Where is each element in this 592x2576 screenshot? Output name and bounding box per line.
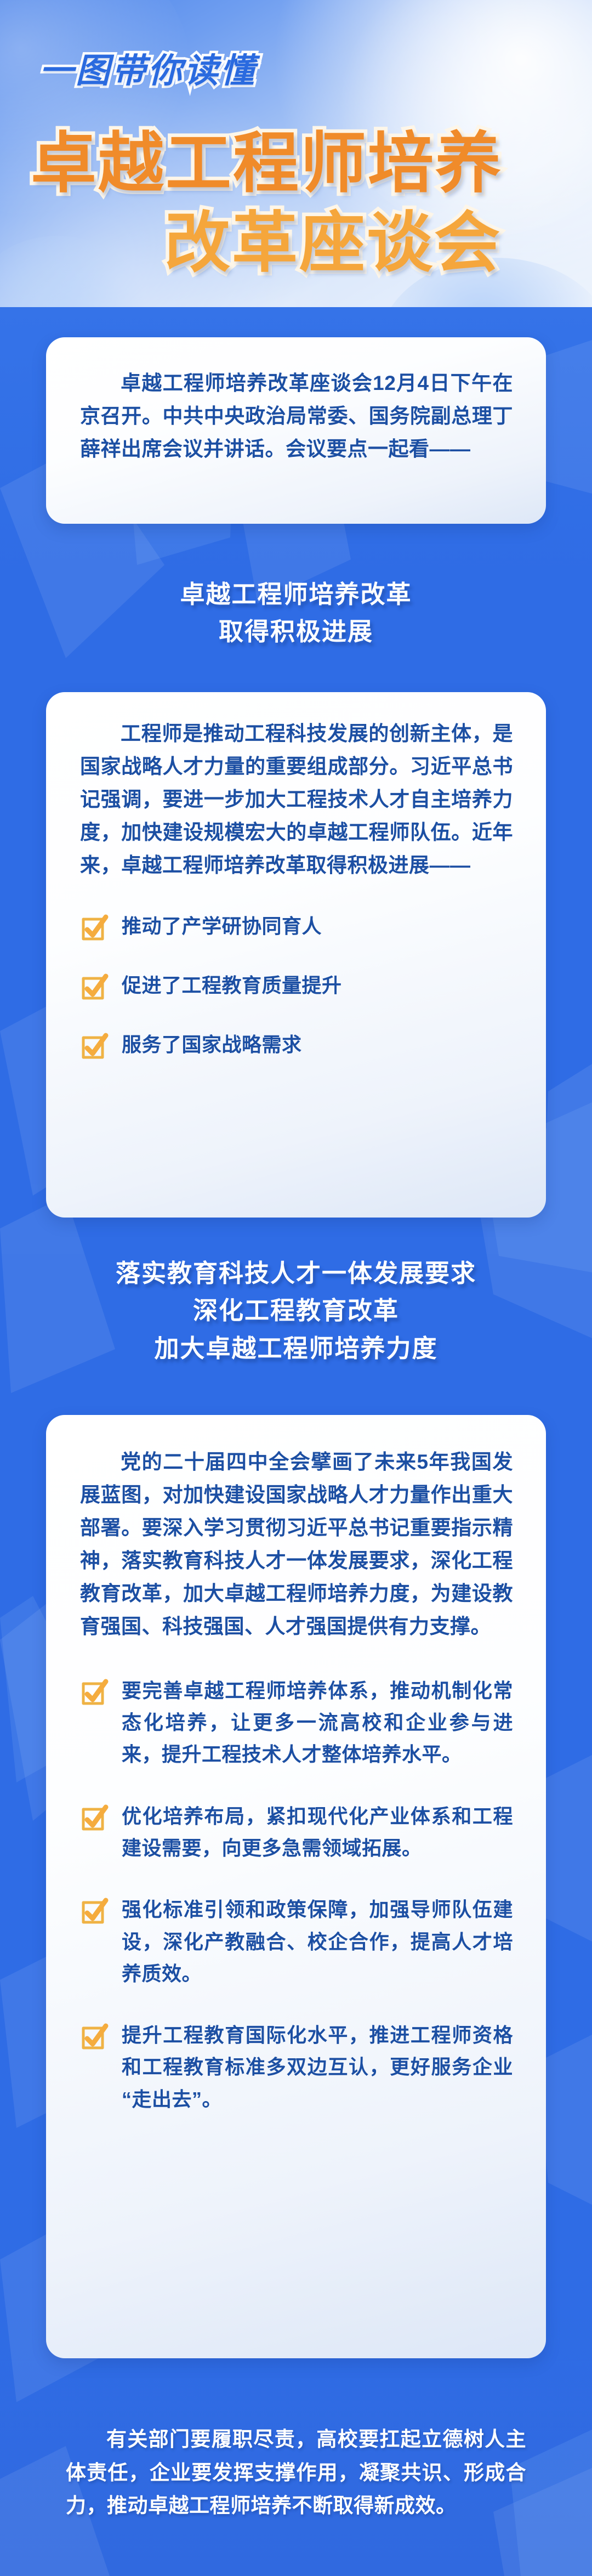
section2-card: 党的二十届四中全会擘画了未来5年我国发展蓝图，对加快建设国家战略人才力量作出重大… xyxy=(46,1415,546,2358)
list-item: 要完善卓越工程师培养体系，推动机制化常态化培养，让更多一流高校和企业参与进来，提… xyxy=(80,1675,513,1771)
section2-heading: 落实教育科技人才一体发展要求 深化工程教育改革 加大卓越工程师培养力度 xyxy=(0,1255,592,1367)
list-item: 优化培养布局，紧扣现代化产业体系和工程建设需要，向更多急需领域拓展。 xyxy=(80,1801,513,1865)
hero-kicker: 一图带你读懂 xyxy=(39,43,257,92)
hero-title-line2: 改革座谈会 xyxy=(164,189,502,285)
list-item-label: 促进了工程教育质量提升 xyxy=(122,970,342,1001)
section1-heading-line1: 卓越工程师培养改革 xyxy=(0,576,592,613)
section2-heading-line3: 加大卓越工程师培养力度 xyxy=(0,1330,592,1367)
checkbox-checked-icon xyxy=(80,913,110,942)
list-item: 服务了国家战略需求 xyxy=(80,1029,513,1061)
list-item-label: 优化培养布局，紧扣现代化产业体系和工程建设需要，向更多急需领域拓展。 xyxy=(122,1801,513,1865)
list-item-label: 推动了产学研协同育人 xyxy=(122,910,322,942)
list-item: 促进了工程教育质量提升 xyxy=(80,970,513,1001)
section1-paragraph: 工程师是推动工程科技发展的创新主体，是国家战略人才力量的重要组成部分。习近平总书… xyxy=(80,717,513,882)
section1-heading-line2: 取得积极进展 xyxy=(0,613,592,650)
footer-paragraph: 有关部门要履职尽责，高校要扛起立德树人主体责任，企业要发挥支撑作用，凝聚共识、形… xyxy=(66,2423,526,2523)
checkbox-checked-icon xyxy=(80,2022,110,2051)
list-item: 推动了产学研协同育人 xyxy=(80,910,513,942)
section2-heading-line2: 深化工程教育改革 xyxy=(0,1292,592,1329)
list-item-label: 提升工程教育国际化水平，推进工程师资格和工程教育标准多双边互认，更好服务企业“走… xyxy=(122,2019,513,2115)
list-item-label: 强化标准引领和政策保障，加强导师队伍建设，深化产教融合、校企合作，提高人才培养质… xyxy=(122,1894,513,1990)
list-item: 强化标准引领和政策保障，加强导师队伍建设，深化产教融合、校企合作，提高人才培养质… xyxy=(80,1894,513,1990)
checkbox-checked-icon xyxy=(80,1031,110,1061)
section1-card: 工程师是推动工程科技发展的创新主体，是国家战略人才力量的重要组成部分。习近平总书… xyxy=(46,692,546,1218)
intro-paragraph: 卓越工程师培养改革座谈会12月4日下午在京召开。中共中央政治局常委、国务院副总理… xyxy=(80,367,513,466)
infographic-page: 一图带你读懂 卓越工程师培养 改革座谈会 卓越工程师培养改革座谈会12月4日下午… xyxy=(0,0,592,2576)
section2-heading-line1: 落实教育科技人才一体发展要求 xyxy=(0,1255,592,1292)
section2-paragraph: 党的二十届四中全会擘画了未来5年我国发展蓝图，对加快建设国家战略人才力量作出重大… xyxy=(80,1446,513,1643)
list-item-label: 服务了国家战略需求 xyxy=(122,1029,302,1061)
checkbox-checked-icon xyxy=(80,972,110,1001)
list-item: 提升工程教育国际化水平，推进工程师资格和工程教育标准多双边互认，更好服务企业“走… xyxy=(80,2019,513,2115)
list-item-label: 要完善卓越工程师培养体系，推动机制化常态化培养，让更多一流高校和企业参与进来，提… xyxy=(122,1675,513,1771)
section1-heading: 卓越工程师培养改革 取得积极进展 xyxy=(0,576,592,651)
intro-card: 卓越工程师培养改革座谈会12月4日下午在京召开。中共中央政治局常委、国务院副总理… xyxy=(46,337,546,524)
checkbox-checked-icon xyxy=(80,1677,110,1707)
checkbox-checked-icon xyxy=(80,1803,110,1832)
checkbox-checked-icon xyxy=(80,1896,110,1926)
